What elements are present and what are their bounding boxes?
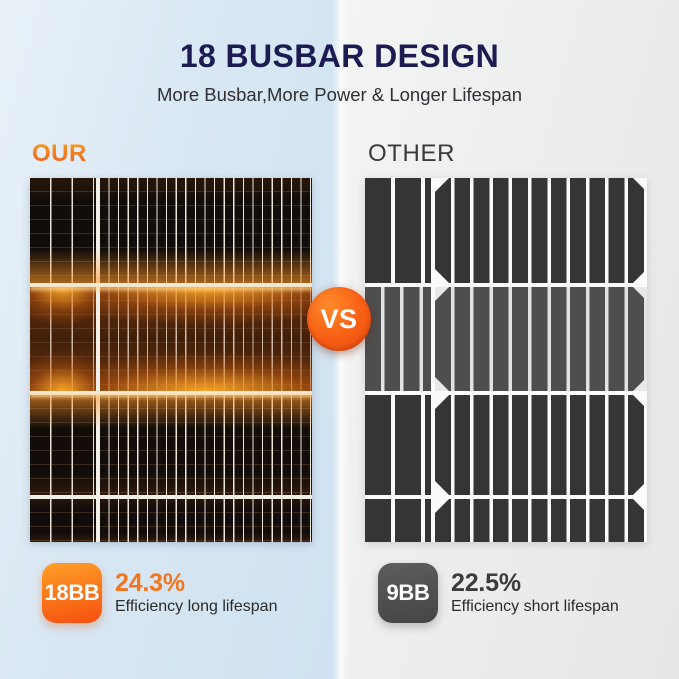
- busbar-strips: [365, 178, 431, 283]
- busbar-strips: [435, 178, 647, 283]
- finger-lines: [30, 499, 96, 542]
- efficiency-value-our: 24.3%: [115, 570, 277, 596]
- finger-lines: [100, 499, 312, 542]
- busbar-strips: [435, 499, 647, 542]
- corner-chamfer-icon: [435, 481, 449, 495]
- label-our: OUR: [32, 140, 87, 168]
- finger-lines: [30, 395, 96, 495]
- cell-row: [365, 395, 647, 495]
- badge-9bb: 9BB: [378, 563, 438, 623]
- corner-chamfer-icon: [435, 395, 449, 409]
- cell-row: [30, 395, 312, 495]
- busbar-strips: [435, 395, 647, 495]
- solar-cell: [435, 287, 647, 390]
- panel-cell-grid-our: [30, 178, 312, 542]
- corner-chamfer-icon: [633, 481, 647, 495]
- solar-cell: [30, 395, 96, 495]
- versus-badge: VS: [307, 287, 371, 351]
- solar-cell: [30, 287, 96, 390]
- corner-chamfer-icon: [633, 499, 647, 513]
- page-subtitle: More Busbar,More Power & Longer Lifespan: [0, 84, 679, 106]
- stat-text-other: 22.5% Efficiency short lifespan: [451, 570, 619, 615]
- corner-chamfer-icon: [633, 178, 647, 192]
- corner-chamfer-icon: [435, 178, 449, 192]
- solar-panel-other: [365, 178, 647, 542]
- solar-cell: [365, 395, 431, 495]
- glow-edge-bottom: [30, 392, 312, 399]
- busbar-strips: [365, 395, 431, 495]
- solar-panel-our: [30, 178, 312, 542]
- finger-lines: [100, 395, 312, 495]
- efficiency-caption-other: Efficiency short lifespan: [451, 598, 619, 616]
- solar-cell: [100, 287, 312, 390]
- stat-text-our: 24.3% Efficiency long lifespan: [115, 570, 277, 615]
- finger-lines: [30, 178, 96, 283]
- busbar-lines: [30, 287, 96, 390]
- finger-lines: [100, 178, 312, 283]
- corner-chamfer-icon: [633, 395, 647, 409]
- cell-row-highlighted: [365, 287, 647, 390]
- solar-cell: [30, 178, 96, 283]
- corner-chamfer-icon: [633, 269, 647, 283]
- solar-cell: [365, 499, 431, 542]
- cell-row: [30, 499, 312, 542]
- corner-chamfer-icon: [633, 287, 647, 301]
- busbar-strips: [365, 499, 431, 542]
- cell-row-glowing: [30, 287, 312, 390]
- corner-chamfer-icon: [435, 269, 449, 283]
- corner-chamfer-icon: [435, 287, 449, 301]
- solar-cell: [30, 499, 96, 542]
- header: 18 BUSBAR DESIGN More Busbar,More Power …: [0, 0, 679, 106]
- solar-cell: [435, 178, 647, 283]
- cell-row: [365, 499, 647, 542]
- solar-cell: [100, 395, 312, 495]
- efficiency-value-other: 22.5%: [451, 570, 619, 596]
- badge-18bb: 18BB: [42, 563, 102, 623]
- panel-cell-grid-other: [365, 178, 647, 542]
- stat-other: 9BB 22.5% Efficiency short lifespan: [378, 563, 619, 623]
- cell-row: [365, 178, 647, 283]
- solar-cell: [100, 178, 312, 283]
- page-title: 18 BUSBAR DESIGN: [0, 38, 679, 75]
- stat-our: 18BB 24.3% Efficiency long lifespan: [42, 563, 277, 623]
- cell-row: [30, 178, 312, 283]
- busbar-lines: [100, 287, 312, 390]
- solar-cell: [435, 395, 647, 495]
- glow-edge-top: [30, 285, 312, 292]
- corner-chamfer-icon: [633, 377, 647, 391]
- solar-cell: [435, 499, 647, 542]
- corner-chamfer-icon: [435, 377, 449, 391]
- efficiency-caption-our: Efficiency long lifespan: [115, 598, 277, 616]
- finger-lines: [100, 287, 312, 390]
- solar-cell: [100, 499, 312, 542]
- corner-chamfer-icon: [435, 499, 449, 513]
- busbar-strips: [435, 287, 647, 390]
- label-other: OTHER: [368, 140, 455, 168]
- finger-lines: [30, 287, 96, 390]
- solar-cell: [365, 178, 431, 283]
- busbar-strips: [365, 287, 431, 390]
- solar-cell: [365, 287, 431, 390]
